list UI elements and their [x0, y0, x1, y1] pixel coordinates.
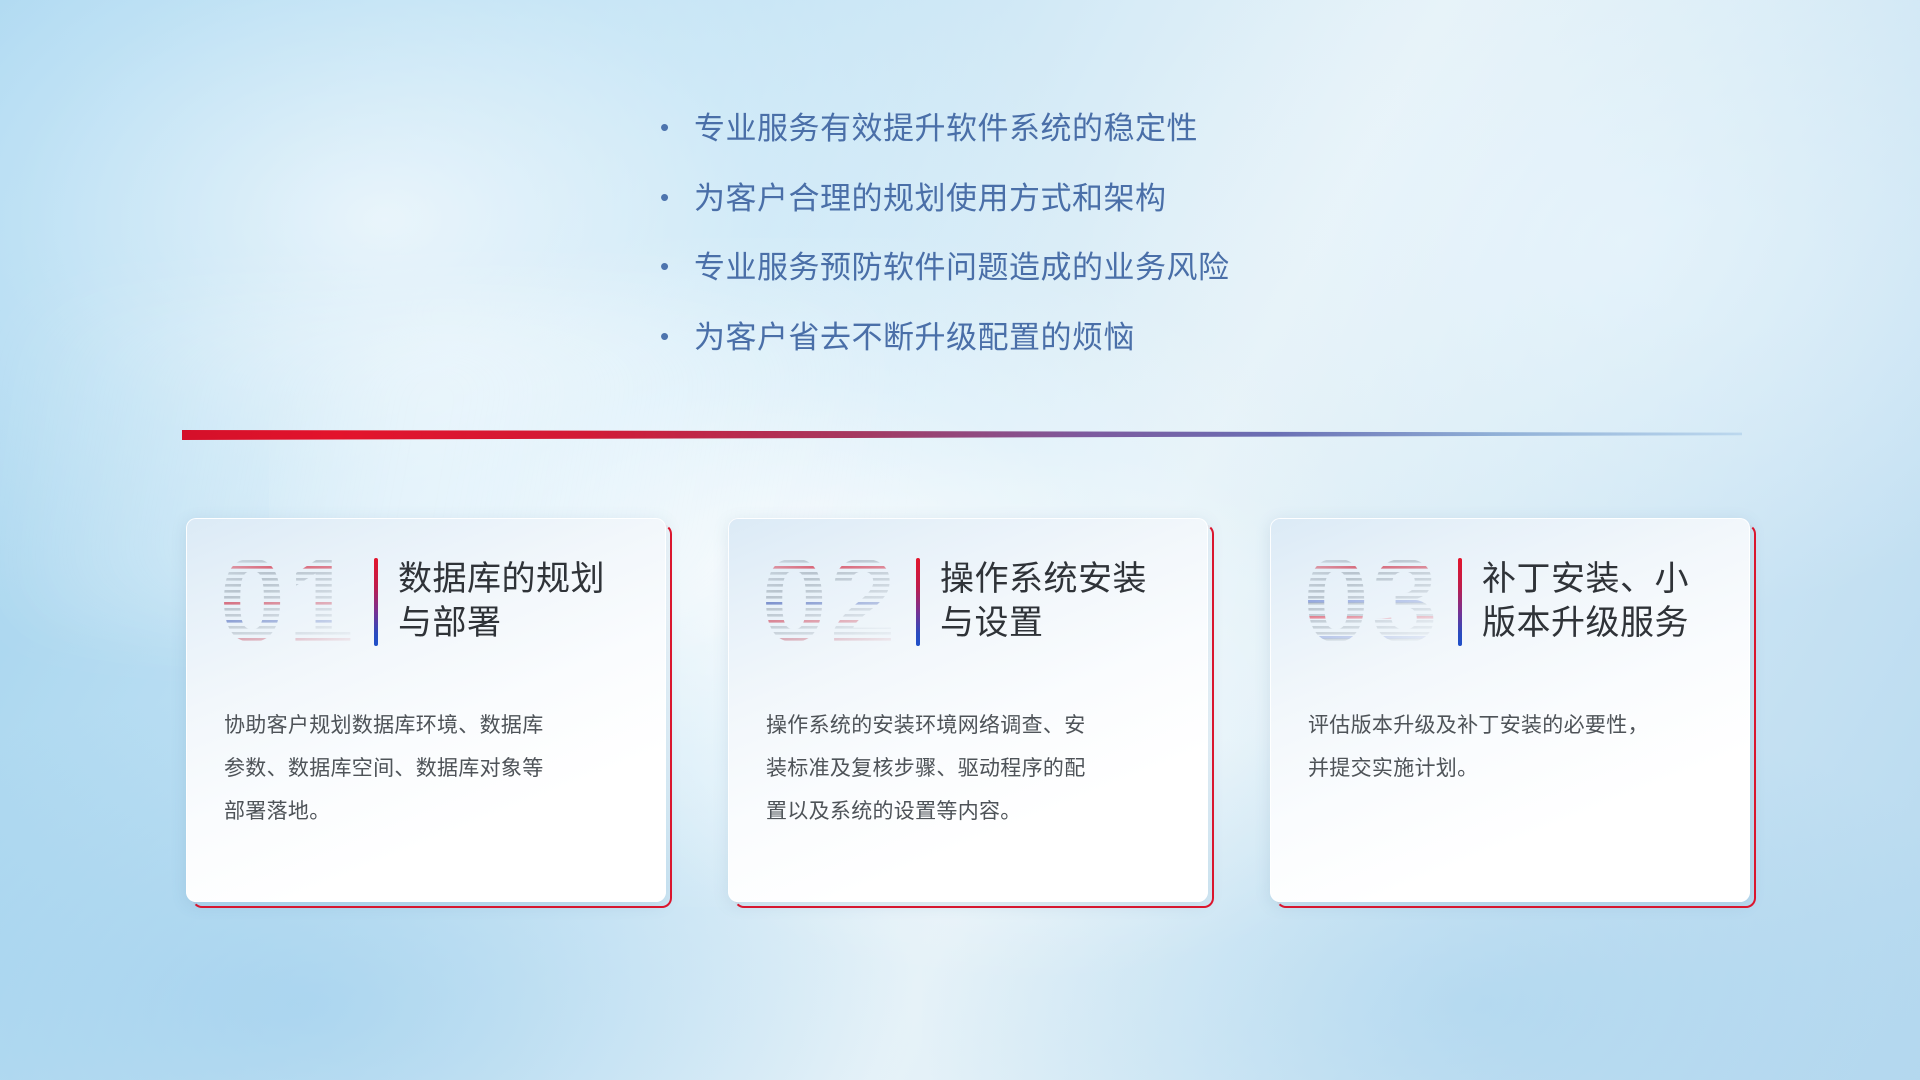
card-description: 操作系统的安装环境网络调查、安 装标准及复核步骤、驱动程序的配 置以及系统的设置…: [766, 704, 1174, 833]
card-header: 01 数据库的规: [186, 542, 666, 662]
service-card[interactable]: 03 补丁安装、: [1270, 518, 1756, 908]
bullet-dot-icon: •: [660, 114, 694, 140]
card-header: 02 操作系统安: [728, 542, 1208, 662]
bullet-label: 为客户合理的规划使用方式和架构: [694, 178, 1167, 220]
card-surface: 02 操作系统安: [728, 518, 1208, 902]
card-accent-bar: [374, 558, 378, 646]
bullet-label: 专业服务有效提升软件系统的稳定性: [694, 108, 1198, 150]
benefit-bullet-list: • 专业服务有效提升软件系统的稳定性 • 为客户合理的规划使用方式和架构 • 专…: [660, 108, 1420, 386]
card-description: 评估版本升级及补丁安装的必要性， 并提交实施计划。: [1308, 704, 1716, 790]
card-title: 数据库的规划 与部署: [398, 558, 615, 645]
card-header: 03 补丁安装、: [1270, 542, 1750, 662]
section-divider: [182, 424, 1742, 442]
service-card[interactable]: 02 操作系统安: [728, 518, 1214, 908]
bullet-dot-icon: •: [660, 184, 694, 210]
slide-content: • 专业服务有效提升软件系统的稳定性 • 为客户合理的规划使用方式和架构 • 专…: [0, 0, 1920, 1080]
bullet-label: 为客户省去不断升级配置的烦恼: [694, 317, 1135, 359]
card-title: 操作系统安装 与设置: [940, 558, 1157, 645]
service-card[interactable]: 01 数据库的规: [186, 518, 672, 908]
card-title: 补丁安装、小 版本升级服务: [1482, 558, 1699, 645]
list-item: • 专业服务预防软件问题造成的业务风险: [660, 247, 1420, 289]
card-number-watermark: 03: [1292, 542, 1452, 662]
bullet-dot-icon: •: [660, 323, 694, 349]
service-card-list: 01 数据库的规: [186, 518, 1756, 908]
card-number-watermark: 01: [208, 542, 368, 662]
list-item: • 为客户省去不断升级配置的烦恼: [660, 317, 1420, 359]
card-description: 协助客户规划数据库环境、数据库 参数、数据库空间、数据库对象等 部署落地。: [224, 704, 632, 833]
card-surface: 01 数据库的规: [186, 518, 666, 902]
card-accent-bar: [916, 558, 920, 646]
list-item: • 为客户合理的规划使用方式和架构: [660, 178, 1420, 220]
list-item: • 专业服务有效提升软件系统的稳定性: [660, 108, 1420, 150]
bullet-label: 专业服务预防软件问题造成的业务风险: [694, 247, 1230, 289]
card-accent-bar: [1458, 558, 1462, 646]
bullet-dot-icon: •: [660, 253, 694, 279]
card-surface: 03 补丁安装、: [1270, 518, 1750, 902]
card-number-watermark: 02: [750, 542, 910, 662]
